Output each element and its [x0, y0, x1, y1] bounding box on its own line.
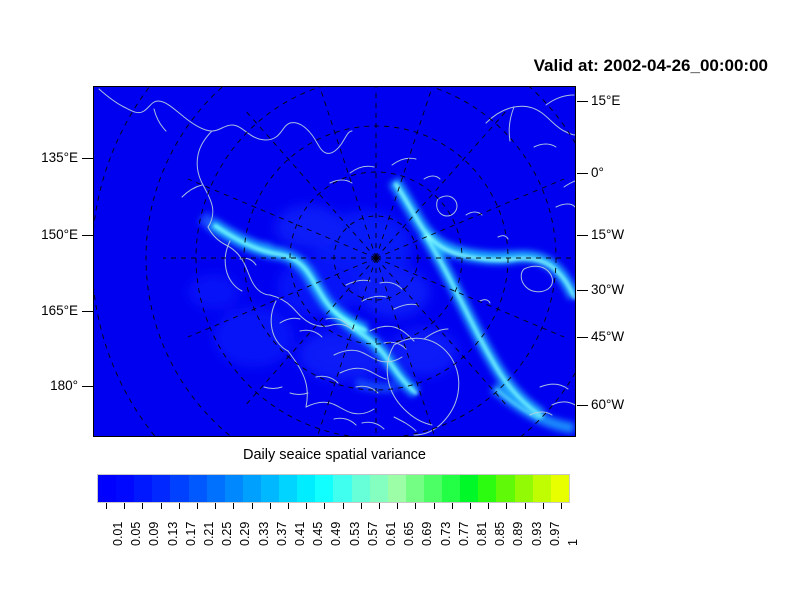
tick-left-1	[82, 235, 93, 236]
colorbar-label-21: 0.85	[493, 522, 507, 546]
colorbar-band-14	[352, 475, 370, 502]
colorbar-band-17	[406, 475, 424, 502]
colorbar-label-22: 0.89	[511, 522, 525, 546]
colorbar-band-20	[460, 475, 478, 502]
colorbar-band-2	[134, 475, 152, 502]
colorbar-label-2: 0.09	[147, 522, 161, 546]
colorbar-band-19	[442, 475, 460, 502]
colorbar-label-6: 0.25	[220, 522, 234, 546]
colorbar-band-24	[533, 475, 551, 502]
map-plot-area[interactable]	[93, 86, 576, 437]
colorbar-tick-labels: 0.010.050.090.130.170.210.250.290.330.37…	[0, 506, 792, 576]
colorbar-label-14: 0.57	[366, 522, 380, 546]
axis-label-right-5: 60°W	[591, 398, 624, 412]
colorbar-label-4: 0.17	[184, 522, 198, 546]
tick-right-0	[577, 101, 588, 102]
colorbar-label-3: 0.13	[166, 522, 180, 546]
colorbar-label-18: 0.73	[439, 522, 453, 546]
colorbar-band-16	[388, 475, 406, 502]
colorbar-band-5	[189, 475, 207, 502]
colorbar-label-13: 0.53	[348, 522, 362, 546]
tick-right-2	[577, 235, 588, 236]
figure-root: Valid at: 2002-04-26_00:00:00	[0, 0, 792, 612]
colorbar-band-3	[152, 475, 170, 502]
tick-right-4	[577, 337, 588, 338]
colorbar-band-18	[424, 475, 442, 502]
axis-label-right-0: 15°E	[591, 94, 620, 108]
colorbar-band-12	[315, 475, 333, 502]
colorbar-band-11	[297, 475, 315, 502]
tick-right-3	[577, 290, 588, 291]
colorbar-band-13	[333, 475, 351, 502]
colorbar-band-0	[98, 475, 116, 502]
colorbar-label-19: 0.77	[457, 522, 471, 546]
page-title: Valid at: 2002-04-26_00:00:00	[360, 56, 768, 76]
colorbar-label-20: 0.81	[475, 522, 489, 546]
tick-left-3	[82, 386, 93, 387]
axis-label-left-0: 135°E	[41, 151, 78, 165]
tick-left-0	[82, 158, 93, 159]
colorbar-label-12: 0.49	[329, 522, 343, 546]
colorbar-label-10: 0.41	[293, 522, 307, 546]
axis-label-right-1: 0°	[591, 166, 604, 180]
colorbar-label-24: 0.97	[548, 522, 562, 546]
colorbar-band-25	[551, 475, 569, 502]
axis-label-left-1: 150°E	[41, 228, 78, 242]
colorbar-band-6	[207, 475, 225, 502]
colorbar-label-1: 0.05	[129, 522, 143, 546]
axis-label-left-2: 165°E	[41, 304, 78, 318]
colorbar-label-5: 0.21	[202, 522, 216, 546]
colorbar-gradient	[97, 474, 570, 503]
axis-label-right-3: 30°W	[591, 283, 624, 297]
axis-label-right-2: 15°W	[591, 228, 624, 242]
colorbar-band-1	[116, 475, 134, 502]
colorbar-band-4	[170, 475, 188, 502]
map-canvas	[94, 87, 575, 436]
colorbar-label-7: 0.29	[238, 522, 252, 546]
axis-label-right-4: 45°W	[591, 330, 624, 344]
colorbar-label-25: 1	[566, 539, 580, 546]
tick-left-2	[82, 311, 93, 312]
colorbar-band-9	[261, 475, 279, 502]
colorbar[interactable]	[97, 474, 570, 503]
colorbar-label-9: 0.37	[275, 522, 289, 546]
colorbar-label-11: 0.45	[311, 522, 325, 546]
colorbar-band-10	[279, 475, 297, 502]
tick-right-5	[577, 405, 588, 406]
colorbar-label-8: 0.33	[257, 522, 271, 546]
colorbar-label-17: 0.69	[420, 522, 434, 546]
axis-label-left-3: 180°	[50, 379, 78, 393]
colorbar-band-7	[225, 475, 243, 502]
colorbar-label-23: 0.93	[530, 522, 544, 546]
colorbar-caption: Daily seaice spatial variance	[93, 447, 576, 463]
colorbar-band-21	[478, 475, 496, 502]
colorbar-label-16: 0.65	[402, 522, 416, 546]
colorbar-label-0: 0.01	[111, 522, 125, 546]
colorbar-band-23	[515, 475, 533, 502]
colorbar-band-22	[496, 475, 514, 502]
tick-right-1	[577, 173, 588, 174]
colorbar-band-15	[370, 475, 388, 502]
colorbar-label-15: 0.61	[384, 522, 398, 546]
colorbar-band-8	[243, 475, 261, 502]
